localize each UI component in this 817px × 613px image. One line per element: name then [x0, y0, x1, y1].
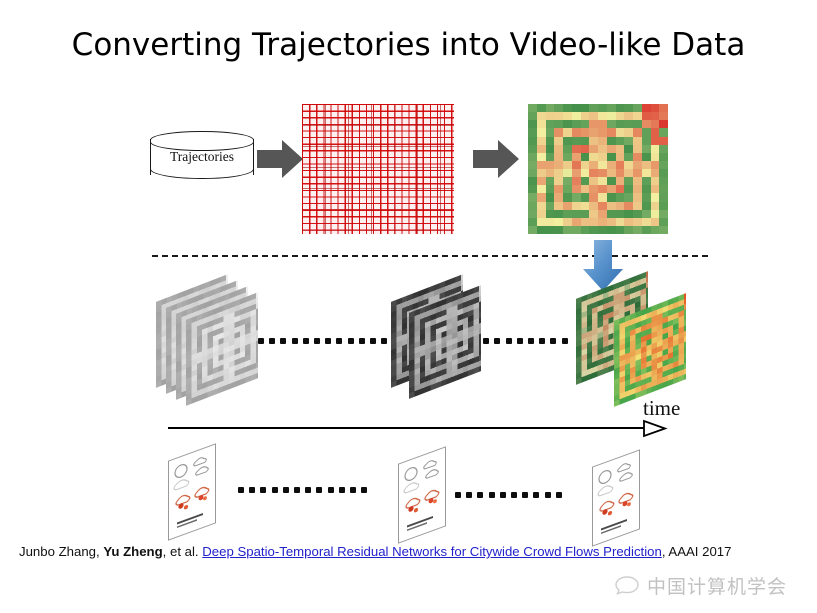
- heatmap-cell: [624, 218, 633, 226]
- heatmap-cell: [589, 218, 598, 226]
- heatmap-cell: [659, 202, 668, 210]
- heatmap-cell: [633, 202, 642, 210]
- heatmap-cell: [633, 120, 642, 128]
- heatmap-cell: [659, 161, 668, 169]
- heatmap-cell: [633, 193, 642, 201]
- frame-stack-gray-dark: [391, 288, 481, 398]
- heatmap-cell: [581, 226, 590, 234]
- heatmap-cell: [581, 161, 590, 169]
- heatmap-cell: [589, 210, 598, 218]
- heatmap-cell: [651, 120, 660, 128]
- heatmap-cell: [651, 128, 660, 136]
- time-axis: [168, 420, 678, 438]
- heatmap-cell: [598, 137, 607, 145]
- heatmap-cell: [616, 169, 625, 177]
- page-title: Converting Trajectories into Video-like …: [0, 27, 817, 63]
- heatmap-cell: [642, 112, 651, 120]
- heatmap-cell: [624, 137, 633, 145]
- heatmap-cell: [563, 193, 572, 201]
- dot-separator-cards-2: [455, 492, 562, 498]
- heatmap-cell: [554, 185, 563, 193]
- heatmap-cell: [659, 128, 668, 136]
- heatmap-cell: [572, 145, 581, 153]
- heatmap-cell: [537, 193, 546, 201]
- heatmap-cell: [598, 218, 607, 226]
- weather-card-glyphs: [399, 448, 445, 543]
- heatmap-cell: [651, 185, 660, 193]
- heatmap-cell: [554, 226, 563, 234]
- heatmap-cell: [589, 185, 598, 193]
- heatmap-cell: [659, 145, 668, 153]
- heatmap-cell: [624, 112, 633, 120]
- heatmap-cell: [633, 177, 642, 185]
- heatmap-cell: [581, 169, 590, 177]
- heatmap-cell: [554, 169, 563, 177]
- heatmap-cell: [642, 226, 651, 234]
- time-axis-label: time: [643, 396, 680, 421]
- heatmap-cell: [572, 161, 581, 169]
- heatmap-cell: [651, 193, 660, 201]
- heatmap-cell: [616, 128, 625, 136]
- heatmap-cell: [537, 202, 546, 210]
- watermark-text: 中国计算机学会: [647, 572, 787, 599]
- heatmap-cell: [598, 128, 607, 136]
- weather-card-icon: [592, 449, 640, 546]
- heatmap-cell: [554, 177, 563, 185]
- frame-stack-green: [576, 285, 686, 400]
- heatmap-cell: [528, 177, 537, 185]
- heatmap-cell: [537, 161, 546, 169]
- heatmap-cell: [659, 169, 668, 177]
- heatmap-cell: [537, 145, 546, 153]
- heatmap-cell: [589, 226, 598, 234]
- weather-card-icon: [398, 446, 446, 543]
- heatmap-cell: [581, 112, 590, 120]
- heatmap-cell: [633, 226, 642, 234]
- hollow-right-arrowhead-icon: [642, 419, 668, 439]
- heatmap-cell: [624, 177, 633, 185]
- heatmap-cell: [659, 137, 668, 145]
- heatmap-cell: [554, 210, 563, 218]
- heatmap-cell: [528, 185, 537, 193]
- heatmap-cell: [572, 226, 581, 234]
- heatmap-cell: [642, 145, 651, 153]
- heatmap-cell: [581, 202, 590, 210]
- heatmap-cell: [616, 193, 625, 201]
- heatmap-cell: [607, 153, 616, 161]
- heatmap-cell: [528, 169, 537, 177]
- heatmap-cell: [659, 210, 668, 218]
- heatmap-cell: [616, 185, 625, 193]
- heatmap-cell: [624, 185, 633, 193]
- heatmap-cell: [659, 153, 668, 161]
- heatmap-cell: [598, 145, 607, 153]
- heatmap-cell: [581, 177, 590, 185]
- heatmap-cell: [572, 112, 581, 120]
- heatmap-cell: [546, 128, 555, 136]
- heatmap-cell: [651, 210, 660, 218]
- heatmap-cell: [589, 177, 598, 185]
- heatmap-cell: [598, 104, 607, 112]
- heatmap-cell: [572, 185, 581, 193]
- heatmap-cell: [616, 202, 625, 210]
- heatmap-cell: [537, 128, 546, 136]
- heatmap-cell: [642, 128, 651, 136]
- heatmap-cell: [537, 210, 546, 218]
- heatmap-cell: [528, 120, 537, 128]
- heatmap-cell: [546, 120, 555, 128]
- frame-stack-gray-light: [156, 288, 266, 398]
- heatmap-cell: [581, 128, 590, 136]
- heatmap-cell: [616, 210, 625, 218]
- heatmap-cell: [659, 226, 668, 234]
- dot-separator-cards-1: [238, 487, 367, 493]
- heatmap-cell: [659, 218, 668, 226]
- weather-card-icon: [168, 443, 216, 540]
- heatmap-cell: [642, 104, 651, 112]
- heatmap-cell: [546, 177, 555, 185]
- heatmap-cell: [546, 210, 555, 218]
- heatmap-cell: [589, 161, 598, 169]
- heatmap-cell: [659, 177, 668, 185]
- heatmap-cell: [589, 120, 598, 128]
- heatmap-cell: [589, 202, 598, 210]
- heatmap-cell: [651, 169, 660, 177]
- heatmap-cell: [616, 112, 625, 120]
- heatmap-cell: [546, 169, 555, 177]
- heatmap-cell: [546, 202, 555, 210]
- heatmap-cell: [633, 145, 642, 153]
- heatmap-cell: [633, 169, 642, 177]
- heatmap-cell: [572, 137, 581, 145]
- cylinder-top: [150, 131, 254, 151]
- weather-card-glyphs: [593, 451, 639, 546]
- heatmap-cell: [616, 161, 625, 169]
- dot-separator-frames-1: [258, 338, 387, 344]
- heatmap-cell: [572, 193, 581, 201]
- heatmap-cell: [659, 112, 668, 120]
- heatmap-cell: [616, 120, 625, 128]
- heatmap-cell: [554, 120, 563, 128]
- heatmap-cell: [589, 153, 598, 161]
- heatmap-cell: [528, 153, 537, 161]
- heatmap-cell: [572, 210, 581, 218]
- citation: Junbo Zhang, Yu Zheng, et al. Deep Spati…: [19, 544, 731, 559]
- heatmap-cell: [589, 137, 598, 145]
- heatmap-cell: [624, 120, 633, 128]
- weather-card-glyphs: [169, 445, 215, 540]
- heatmap-cell: [554, 161, 563, 169]
- heatmap-cell: [554, 104, 563, 112]
- heatmap-cell: [607, 112, 616, 120]
- heatmap-cell: [528, 128, 537, 136]
- heatmap-cell: [659, 185, 668, 193]
- heatmap-cell: [554, 112, 563, 120]
- heatmap-cell: [537, 120, 546, 128]
- heatmap-cell: [563, 145, 572, 153]
- heatmap-cell: [528, 210, 537, 218]
- heatmap-cell: [607, 161, 616, 169]
- heatmap-cell: [607, 202, 616, 210]
- crowd-flow-heatmap: [528, 104, 668, 234]
- trajectories-database-icon: Trajectories: [150, 131, 254, 183]
- heatmap-cell: [659, 120, 668, 128]
- heatmap-cell: [642, 202, 651, 210]
- heatmap-cell: [563, 112, 572, 120]
- heatmap-cell: [581, 210, 590, 218]
- heatmap-cell: [598, 177, 607, 185]
- heatmap-cell: [563, 185, 572, 193]
- heatmap-cell: [651, 104, 660, 112]
- heatmap-cell: [642, 169, 651, 177]
- heatmap-cell: [633, 104, 642, 112]
- heatmap-cell: [624, 193, 633, 201]
- heatmap-cell: [651, 218, 660, 226]
- heatmap-cell: [624, 153, 633, 161]
- heatmap-cell: [616, 145, 625, 153]
- heatmap-cell: [616, 218, 625, 226]
- heatmap-cell: [589, 128, 598, 136]
- heatmap-cell: [633, 128, 642, 136]
- heatmap-cell: [563, 104, 572, 112]
- heatmap-cell: [528, 202, 537, 210]
- heatmap-cell: [589, 112, 598, 120]
- heatmap-cell: [598, 161, 607, 169]
- heatmap-cell: [581, 193, 590, 201]
- heatmap-cell: [607, 120, 616, 128]
- citation-link[interactable]: Deep Spatio-Temporal Residual Networks f…: [202, 544, 662, 559]
- heatmap-cell: [607, 193, 616, 201]
- heatmap-cell: [537, 226, 546, 234]
- heatmap-cell: [598, 202, 607, 210]
- heatmap-cell: [633, 185, 642, 193]
- heatmap-cell: [563, 210, 572, 218]
- heatmap-cell: [563, 161, 572, 169]
- heatmap-cell: [607, 104, 616, 112]
- heatmap-cell: [581, 145, 590, 153]
- citation-authors-prefix: Junbo Zhang,: [19, 544, 103, 559]
- heatmap-cell: [624, 169, 633, 177]
- heatmap-cell: [546, 104, 555, 112]
- heatmap-cell: [563, 169, 572, 177]
- heatmap-cell: [659, 104, 668, 112]
- heatmap-cell: [651, 145, 660, 153]
- heatmap-cell: [572, 120, 581, 128]
- heatmap-cell: [581, 185, 590, 193]
- heatmap-cell: [546, 145, 555, 153]
- heatmap-cell: [607, 185, 616, 193]
- watermark: 中国计算机学会: [614, 570, 804, 600]
- dot-separator-frames-2: [472, 338, 568, 344]
- heatmap-cell: [528, 145, 537, 153]
- red-grid-map: [302, 104, 454, 234]
- heatmap-cell: [624, 104, 633, 112]
- heatmap-cell: [572, 169, 581, 177]
- heatmap-cell: [537, 153, 546, 161]
- heatmap-cell: [546, 218, 555, 226]
- slide-canvas: Converting Trajectories into Video-like …: [0, 0, 817, 613]
- heatmap-cell: [581, 153, 590, 161]
- heatmap-cell: [616, 177, 625, 185]
- heatmap-cell: [546, 185, 555, 193]
- heatmap-cell: [642, 193, 651, 201]
- heatmap-cell: [598, 226, 607, 234]
- heatmap-cell: [633, 218, 642, 226]
- heatmap-cell: [607, 145, 616, 153]
- heatmap-cell: [651, 137, 660, 145]
- citation-authors-suffix: , et al.: [163, 544, 203, 559]
- heatmap-cell: [554, 193, 563, 201]
- heatmap-cell: [642, 177, 651, 185]
- heatmap-cell: [598, 210, 607, 218]
- heatmap-cell: [537, 104, 546, 112]
- heatmap-cell: [572, 202, 581, 210]
- right-block-arrow-icon-1: [255, 137, 305, 181]
- heatmap-cell: [581, 104, 590, 112]
- heatmap-cell: [554, 202, 563, 210]
- heatmap-cell: [642, 120, 651, 128]
- heatmap-cell: [624, 128, 633, 136]
- heatmap-cell: [624, 161, 633, 169]
- heatmap-cell: [651, 161, 660, 169]
- speech-bubble-icon: [614, 575, 640, 595]
- heatmap-cell: [589, 104, 598, 112]
- right-block-arrow-icon-2: [471, 137, 521, 181]
- heatmap-cell: [651, 177, 660, 185]
- heatmap-cell: [572, 128, 581, 136]
- heatmap-cell: [528, 218, 537, 226]
- heatmap-cell: [563, 226, 572, 234]
- heatmap-cell: [598, 153, 607, 161]
- heatmap-cell: [616, 226, 625, 234]
- heatmap-cell: [633, 137, 642, 145]
- heatmap-cell: [642, 210, 651, 218]
- heatmap-cell: [651, 202, 660, 210]
- heatmap-cell: [651, 153, 660, 161]
- heatmap-cell: [546, 226, 555, 234]
- heatmap-cell: [598, 185, 607, 193]
- heatmap-cell: [563, 153, 572, 161]
- heatmap-cell: [554, 128, 563, 136]
- heatmap-cell: [616, 137, 625, 145]
- heatmap-cell: [642, 185, 651, 193]
- heatmap-cell: [616, 104, 625, 112]
- heatmap-cell: [546, 137, 555, 145]
- heatmap-cell: [598, 112, 607, 120]
- heatmap-cell: [528, 112, 537, 120]
- heatmap-cell: [528, 104, 537, 112]
- heatmap-cell: [537, 169, 546, 177]
- heatmap-cell: [528, 193, 537, 201]
- heatmap-cell: [537, 177, 546, 185]
- heatmap-cell: [528, 161, 537, 169]
- heatmap-cell: [563, 218, 572, 226]
- heatmap-cell: [572, 104, 581, 112]
- heatmap-cell: [546, 112, 555, 120]
- heatmap-cell: [546, 153, 555, 161]
- heatmap-cell: [616, 153, 625, 161]
- heatmap-cell: [598, 193, 607, 201]
- database-label: Trajectories: [150, 149, 254, 165]
- heatmap-cell: [589, 193, 598, 201]
- heatmap-cell: [589, 169, 598, 177]
- heatmap-cell: [642, 218, 651, 226]
- heatmap-cell: [659, 193, 668, 201]
- heatmap-cell: [537, 185, 546, 193]
- heatmap-cell: [607, 169, 616, 177]
- heatmap-cell: [528, 137, 537, 145]
- heatmap-cell: [563, 120, 572, 128]
- heatmap-cell: [624, 226, 633, 234]
- heatmap-cell: [633, 153, 642, 161]
- heatmap-cell: [563, 128, 572, 136]
- heatmap-cell: [607, 226, 616, 234]
- heatmap-cell: [554, 153, 563, 161]
- heatmap-cell: [528, 226, 537, 234]
- heatmap-cell: [537, 218, 546, 226]
- heatmap-cell: [633, 210, 642, 218]
- heatmap-cell: [624, 145, 633, 153]
- heatmap-cell: [607, 210, 616, 218]
- heatmap-cell: [607, 177, 616, 185]
- heatmap-cell: [598, 169, 607, 177]
- heatmap-cell: [633, 161, 642, 169]
- heatmap-cell: [642, 137, 651, 145]
- heatmap-cell: [624, 202, 633, 210]
- heatmap-cell: [572, 153, 581, 161]
- heatmap-cell: [546, 193, 555, 201]
- heatmap-cell: [554, 137, 563, 145]
- heatmap-cell: [607, 128, 616, 136]
- heatmap-cell: [563, 202, 572, 210]
- heatmap-cell: [642, 161, 651, 169]
- heatmap-cell: [598, 120, 607, 128]
- heatmap-cell: [581, 218, 590, 226]
- heatmap-cell: [581, 120, 590, 128]
- citation-authors-bold: Yu Zheng: [103, 544, 162, 559]
- heatmap-cell: [572, 218, 581, 226]
- heatmap-cell: [563, 177, 572, 185]
- heatmap-cell: [607, 137, 616, 145]
- heatmap-cell: [642, 153, 651, 161]
- heatmap-cell: [589, 145, 598, 153]
- heatmap-cell: [554, 145, 563, 153]
- heatmap-cell: [572, 177, 581, 185]
- heatmap-cell: [537, 137, 546, 145]
- heatmap-cell: [581, 137, 590, 145]
- heatmap-cell: [651, 112, 660, 120]
- heatmap-cell: [633, 112, 642, 120]
- citation-venue: , AAAI 2017: [662, 544, 732, 559]
- heatmap-cell: [651, 226, 660, 234]
- heatmap-cell: [563, 137, 572, 145]
- heatmap-cell: [624, 210, 633, 218]
- heatmap-cell: [607, 218, 616, 226]
- time-axis-line: [168, 427, 650, 429]
- heatmap-cell: [546, 161, 555, 169]
- heatmap-cell: [554, 218, 563, 226]
- heatmap-cell: [537, 112, 546, 120]
